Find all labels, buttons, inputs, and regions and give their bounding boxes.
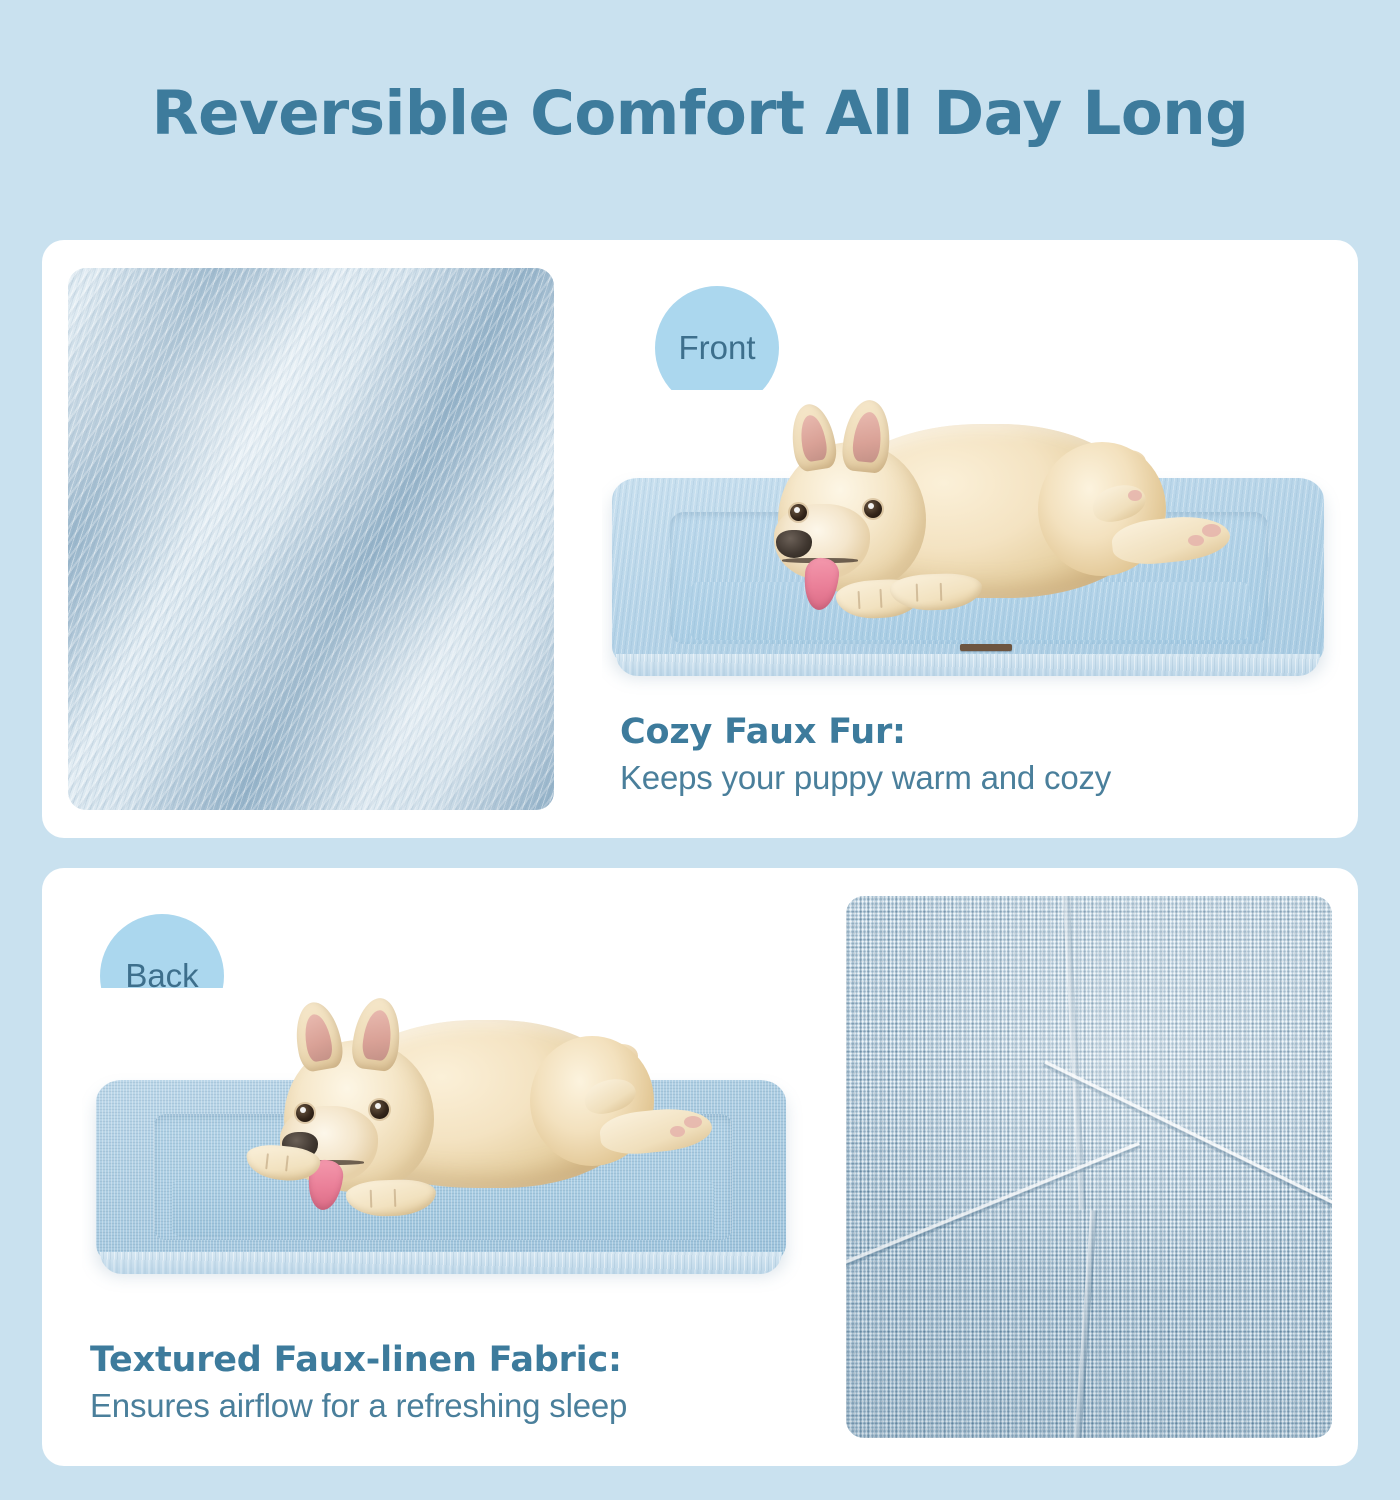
dog-ear-left xyxy=(787,401,839,473)
dog-toe-line-b3 xyxy=(370,1190,373,1208)
fur-highlight-layer xyxy=(68,268,554,810)
dog-toe-line-3 xyxy=(916,584,919,602)
dog-eye-right-glint xyxy=(868,503,874,509)
dog-ear-right-inner xyxy=(851,411,883,464)
caption-back-title: Textured Faux-linen Fabric: xyxy=(90,1340,627,1380)
caption-front-title: Cozy Faux Fur: xyxy=(620,712,1111,752)
dog-eye-right-glint-back xyxy=(375,1103,381,1109)
dog-toe-line-1 xyxy=(858,591,861,609)
badge-front-label: Front xyxy=(678,329,755,367)
caption-front-subtitle: Keeps your puppy warm and cozy xyxy=(620,759,1111,797)
bed-bottom-lip xyxy=(616,654,1320,676)
dog-hind-paw-pad xyxy=(1202,524,1221,537)
dog-eye-left-glint xyxy=(794,507,800,513)
caption-back: Textured Faux-linen Fabric: Ensures airf… xyxy=(90,1340,627,1425)
dog-hind-paw-pad-back-2 xyxy=(670,1126,685,1137)
dog-ear-right-inner-back xyxy=(361,1009,394,1062)
caption-front: Cozy Faux Fur: Keeps your puppy warm and… xyxy=(620,712,1111,797)
feature-card-back: Back xyxy=(42,868,1358,1466)
bed-lip-nap xyxy=(616,654,1320,676)
dog-ear-left-inner-back xyxy=(301,1012,334,1063)
dog-ear-left-back xyxy=(290,999,345,1074)
dog-tongue xyxy=(801,556,840,611)
dog-eye-right-back xyxy=(370,1100,389,1119)
dog-toe-line-2 xyxy=(879,589,882,608)
french-bulldog-front xyxy=(720,398,1240,648)
page-title: Reversible Comfort All Day Long xyxy=(0,78,1400,149)
dog-eye-right xyxy=(864,500,882,518)
linen-bed-lip-nap xyxy=(100,1252,782,1274)
caption-back-subtitle: Ensures airflow for a refreshing sleep xyxy=(90,1387,627,1425)
linen-shading-layer xyxy=(846,896,1332,1438)
faux-fur-texture xyxy=(68,268,554,810)
dog-hind-foot-upper-pad xyxy=(1128,490,1142,501)
linen-bed-bottom-lip xyxy=(100,1252,782,1274)
feature-card-front: Front xyxy=(42,240,1358,838)
dog-toe-line-4 xyxy=(940,583,943,601)
dog-eye-left xyxy=(790,504,807,521)
faux-linen-texture xyxy=(846,896,1332,1438)
dog-hind-paw-pad-2 xyxy=(1188,535,1204,546)
dog-eye-left-back xyxy=(296,1104,314,1122)
dog-eye-left-glint-back xyxy=(300,1107,306,1113)
dog-ear-left-inner xyxy=(798,413,829,462)
dog-on-linen-bed-photo xyxy=(82,988,812,1318)
dog-on-plush-bed-photo xyxy=(602,390,1342,720)
dog-hind-paw-pad-back xyxy=(684,1116,702,1128)
dog-toe-line-b2 xyxy=(285,1155,289,1171)
dog-toe-line-b1 xyxy=(265,1153,269,1169)
french-bulldog-back xyxy=(228,994,738,1244)
dog-ear-right xyxy=(840,398,893,474)
dog-front-paw-right-back xyxy=(345,1178,436,1217)
dog-toe-line-b4 xyxy=(394,1189,397,1207)
